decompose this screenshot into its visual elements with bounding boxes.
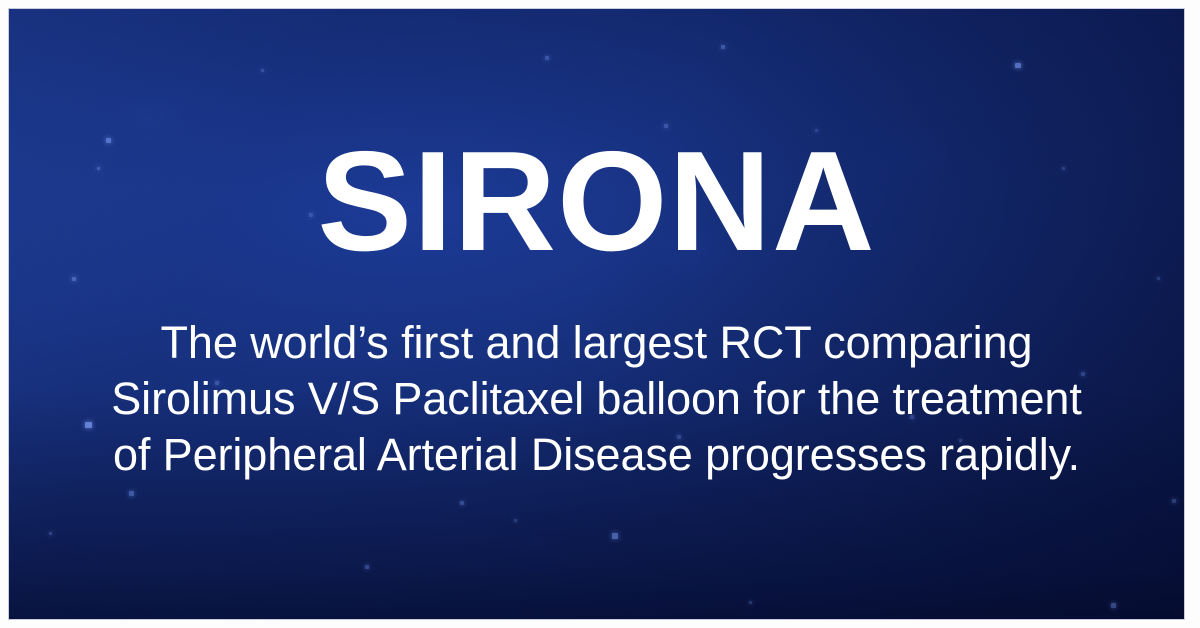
- subtitle-line-3: of Peripheral Arterial Disease progresse…: [9, 427, 1184, 483]
- banner-content: SIRONA The world’s first and largest RCT…: [9, 9, 1184, 619]
- banner-title: SIRONA: [9, 131, 1184, 273]
- promo-banner: SIRONA The world’s first and largest RCT…: [0, 0, 1200, 628]
- banner-subtitle: The world’s first and largest RCT compar…: [9, 315, 1184, 483]
- banner-panel: SIRONA The world’s first and largest RCT…: [8, 8, 1185, 620]
- subtitle-line-2: Sirolimus V/S Paclitaxel balloon for the…: [9, 371, 1184, 427]
- subtitle-line-1: The world’s first and largest RCT compar…: [9, 315, 1184, 371]
